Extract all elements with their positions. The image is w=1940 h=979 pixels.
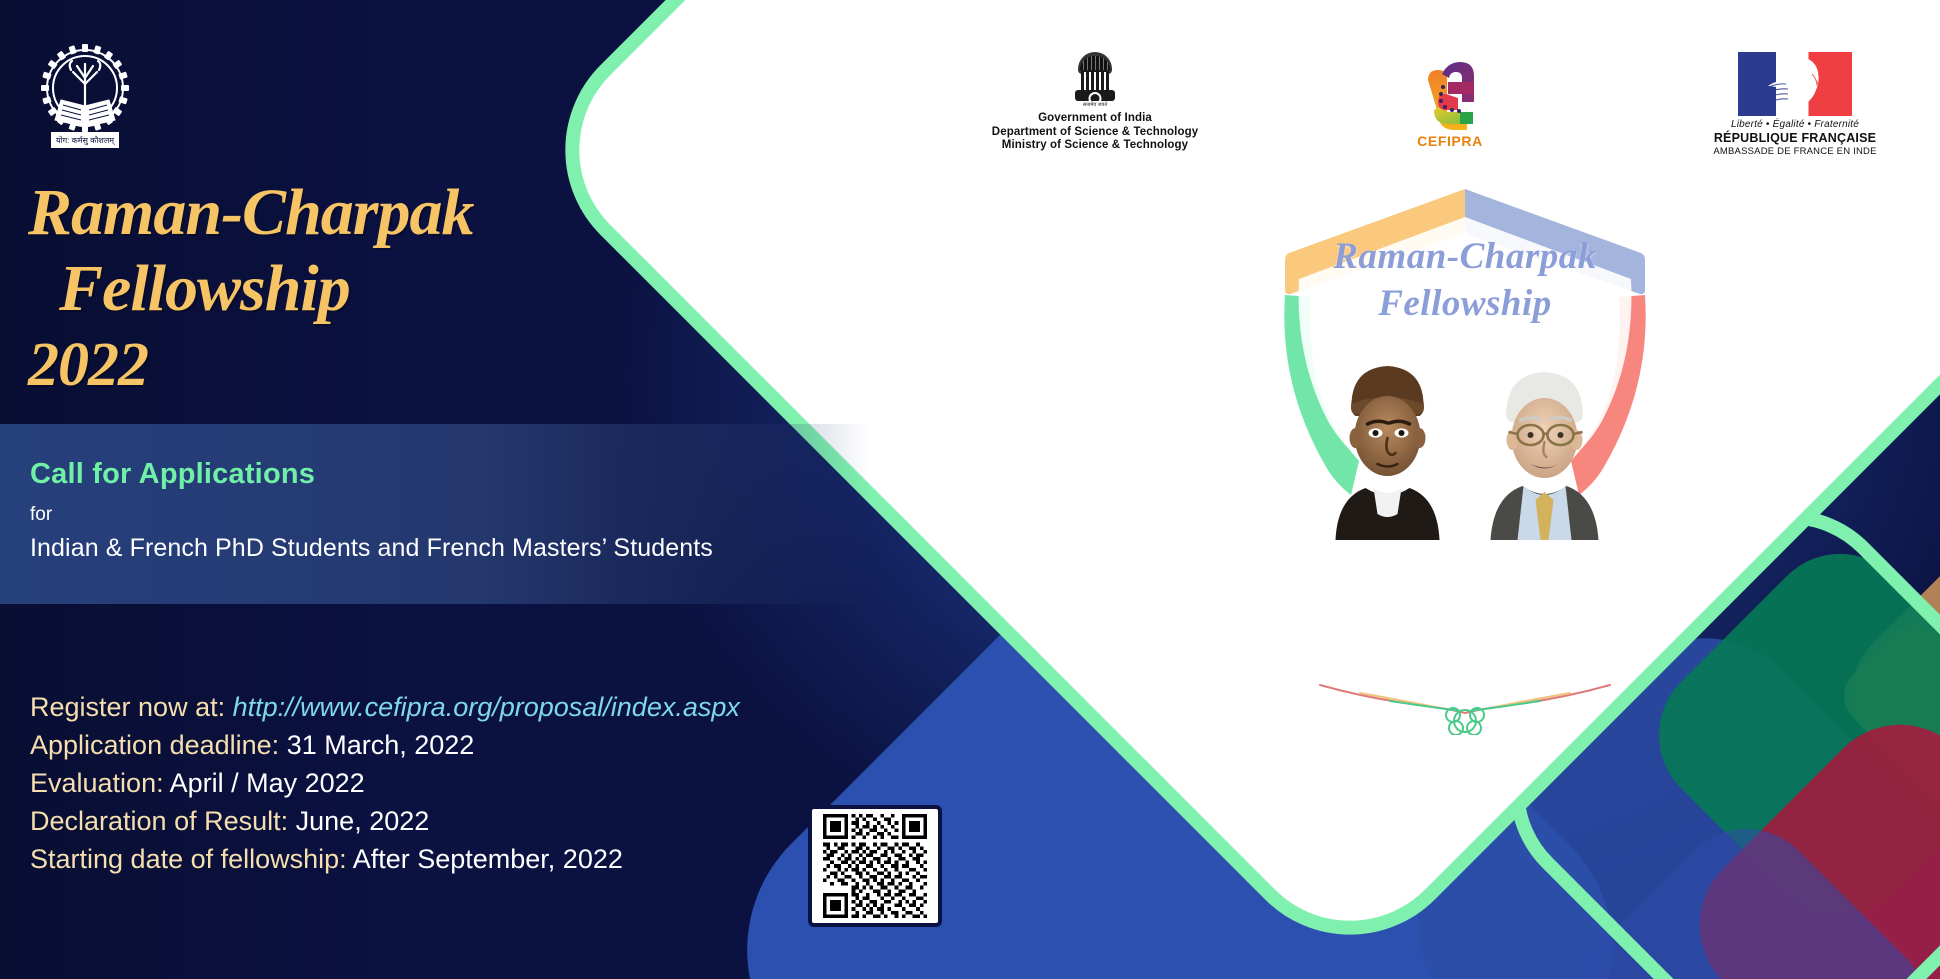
france-motto: Liberté • Égalité • Fraternité	[1650, 119, 1940, 130]
portrait-georges-charpak	[1468, 350, 1621, 540]
detail-label: Evaluation:	[30, 768, 164, 798]
cefipra-label: CEFIPRA	[1340, 133, 1560, 149]
crest-title: Raman-Charpak Fellowship	[1255, 233, 1675, 327]
goi-line-3: Ministry of Science & Technology	[965, 139, 1225, 153]
detail-label: Register now at:	[30, 692, 225, 722]
goi-line-2: Department of Science & Technology	[965, 126, 1225, 140]
detail-row-deadline: Application deadline: 31 March, 2022	[30, 726, 870, 764]
detail-row-evaluation: Evaluation: April / May 2022	[30, 764, 870, 802]
satyameva-jayate-text: सत्यमेव जयते	[1083, 102, 1107, 108]
partner-logos-row: सत्यमेव जयते Government of India Departm…	[750, 52, 1940, 172]
call-for-applications-band: Call for Applications for Indian & Frenc…	[0, 424, 870, 604]
detail-value: April / May 2022	[170, 768, 365, 798]
decorative-flourish	[1290, 655, 1640, 735]
iit-kharagpur-logo: योग: कर्मसु कौशलम्	[25, 36, 145, 154]
republique-francaise-logo: Liberté • Égalité • Fraternité RÉPUBLIQU…	[1650, 52, 1940, 157]
title-line-1: Raman-Charpak	[28, 176, 473, 249]
cefipra-logo: CEFIPRA	[1340, 54, 1560, 149]
detail-value: After September, 2022	[353, 844, 623, 874]
detail-row-register: Register now at: http://www.cefipra.org/…	[30, 688, 870, 726]
title-line-1b: Fellowship	[59, 252, 350, 325]
band-heading: Call for Applications	[30, 458, 315, 491]
title-line-2: 2022	[28, 327, 728, 403]
qr-code[interactable]	[808, 805, 942, 927]
qr-code-image	[817, 814, 933, 918]
registration-link[interactable]: http://www.cefipra.org/proposal/index.as…	[233, 692, 740, 722]
detail-row-start-date: Starting date of fellowship: After Septe…	[30, 840, 870, 878]
iit-motto-text: योग: कर्मसु कौशलम्	[56, 135, 116, 146]
crest-title-line-2: Fellowship	[1255, 280, 1675, 327]
government-of-india-logo: सत्यमेव जयते Government of India Departm…	[965, 52, 1225, 153]
band-audience: Indian & French PhD Students and French …	[30, 534, 713, 563]
details-list: Register now at: http://www.cefipra.org/…	[30, 688, 870, 878]
france-embassy-label: AMBASSADE DE FRANCE EN INDE	[1650, 146, 1940, 157]
fellowship-crest: Raman-Charpak Fellowship	[1255, 175, 1675, 595]
page-title: Raman-Charpak Fellowship 2022	[28, 175, 728, 403]
detail-label: Declaration of Result:	[30, 806, 288, 836]
poster-canvas: योग: कर्मसु कौशलम् Raman-Charpak Fellows…	[0, 0, 1940, 979]
france-republic-label: RÉPUBLIQUE FRANÇAISE	[1650, 131, 1940, 145]
detail-value: 31 March, 2022	[287, 730, 475, 760]
detail-value: June, 2022	[296, 806, 430, 836]
crest-portraits	[1311, 350, 1621, 540]
band-for-label: for	[30, 504, 52, 526]
crest-title-line-1: Raman-Charpak	[1255, 233, 1675, 280]
portrait-cv-raman	[1311, 350, 1464, 540]
cefipra-mark-icon	[1412, 54, 1488, 130]
french-flag-marianne-icon	[1738, 52, 1852, 116]
detail-row-declaration: Declaration of Result: June, 2022	[30, 802, 870, 840]
goi-line-1: Government of India	[965, 112, 1225, 126]
detail-label: Starting date of fellowship:	[30, 844, 347, 874]
ashoka-pillar-icon: सत्यमेव जयते	[1072, 52, 1118, 110]
detail-label: Application deadline:	[30, 730, 279, 760]
